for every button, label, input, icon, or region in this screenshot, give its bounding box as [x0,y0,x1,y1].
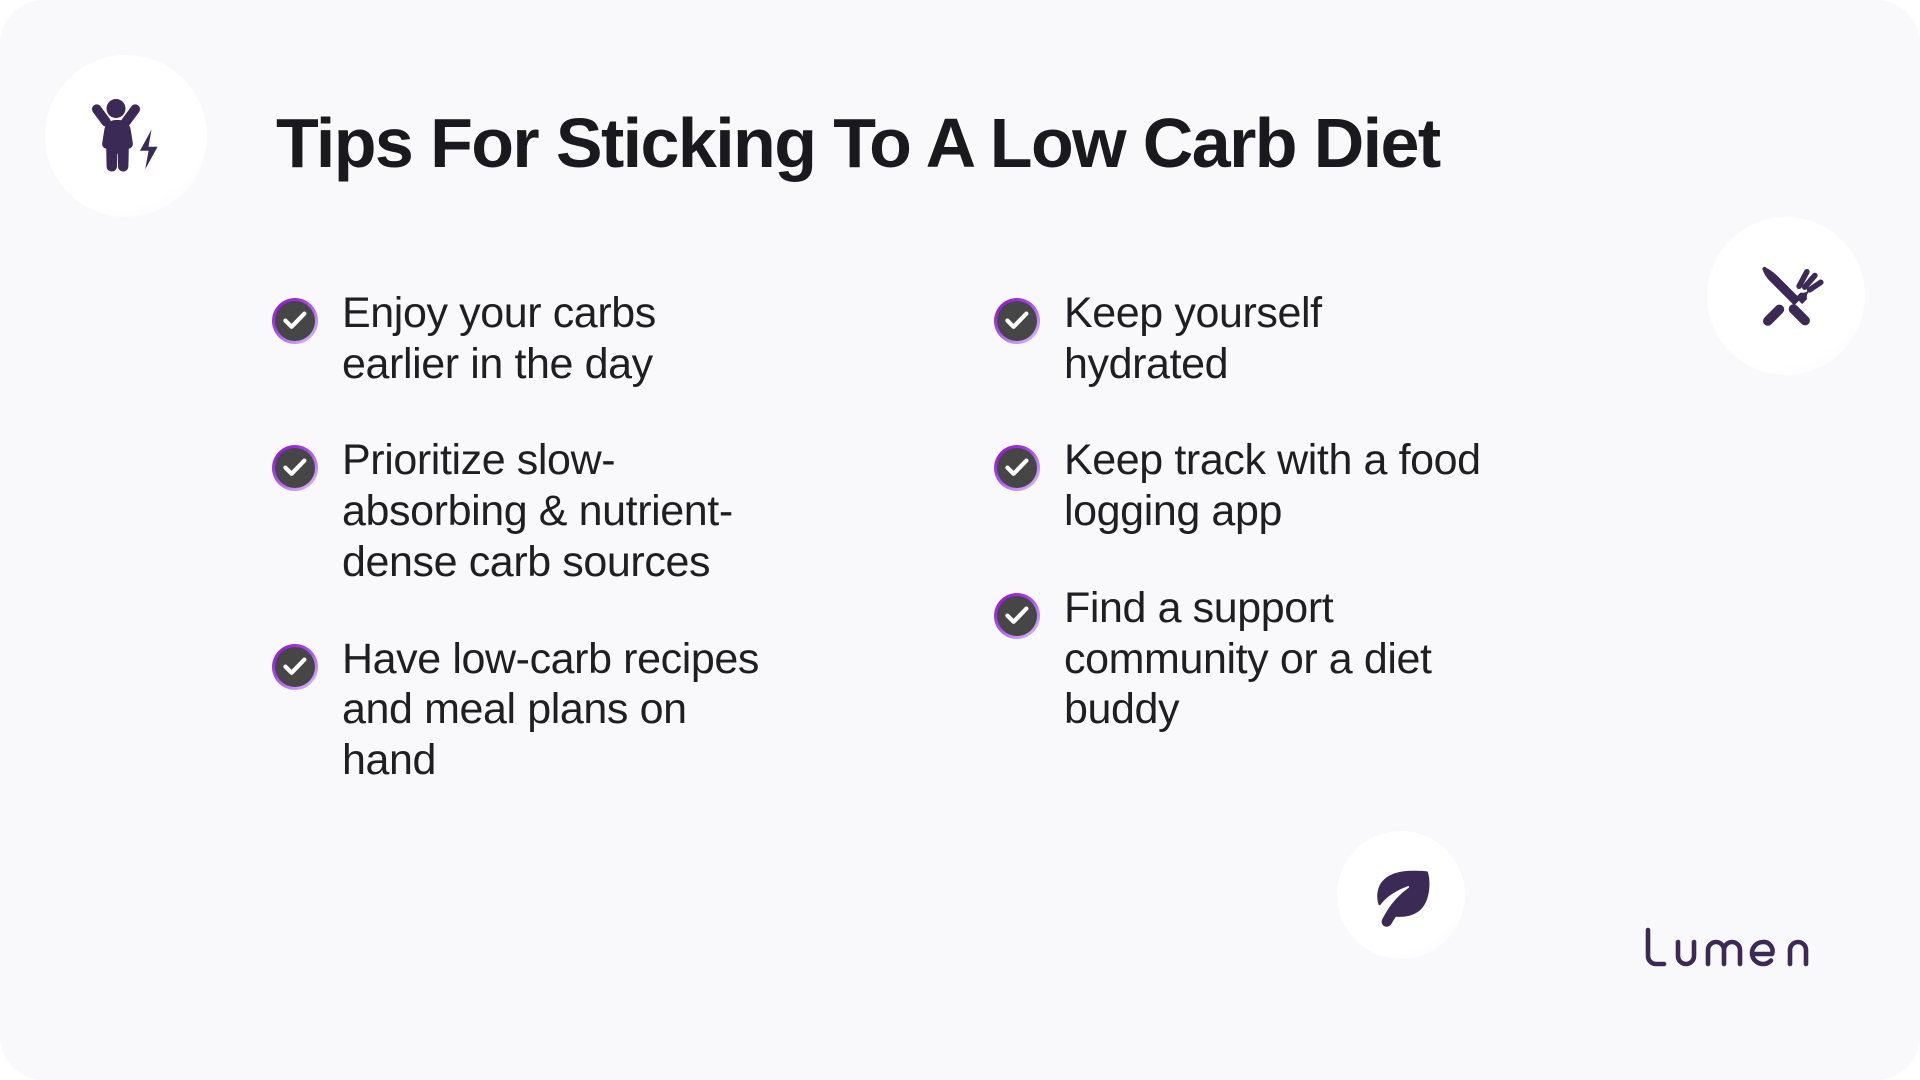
check-icon [272,298,318,344]
energy-person-glyph [78,88,174,184]
tip-text: Keep track with a food logging app [1064,435,1481,536]
tips-column-left: Enjoy your carbs earlier in the day Prio… [272,288,902,786]
lumen-logo [1640,922,1840,982]
check-icon [994,298,1040,344]
list-item: Find a support community or a diet buddy [994,583,1634,735]
list-item: Have low-carb recipes and meal plans on … [272,634,902,786]
check-icon [994,445,1040,491]
tip-text: Prioritize slow- absorbing & nutrient- d… [342,435,733,587]
tips-column-right: Keep yourself hydrated Keep track with a… [994,288,1634,786]
list-item: Enjoy your carbs earlier in the day [272,288,902,389]
infographic-card: Tips For Sticking To A Low Carb Diet [0,0,1920,1080]
lumen-wordmark [1640,922,1840,982]
tip-text: Have low-carb recipes and meal plans on … [342,634,759,786]
check-icon [272,644,318,690]
tip-text: Enjoy your carbs earlier in the day [342,288,656,389]
fork-knife-glyph [1744,254,1828,338]
tip-text: Find a support community or a diet buddy [1064,583,1432,735]
list-item: Keep yourself hydrated [994,288,1634,389]
check-icon [994,593,1040,639]
check-glyph [283,310,307,332]
leaf-icon [1330,824,1472,966]
tips-columns: Enjoy your carbs earlier in the day Prio… [0,288,1920,786]
check-glyph [283,457,307,479]
list-item: Prioritize slow- absorbing & nutrient- d… [272,435,902,587]
check-glyph [1005,310,1029,332]
check-glyph [283,656,307,678]
tip-text: Keep yourself hydrated [1064,288,1322,389]
list-item: Keep track with a food logging app [994,435,1634,536]
leaf-glyph [1365,859,1437,931]
check-icon [272,445,318,491]
check-glyph [1005,605,1029,627]
page-title: Tips For Sticking To A Low Carb Diet [276,108,1706,178]
check-glyph [1005,457,1029,479]
energy-person-icon [38,48,214,224]
